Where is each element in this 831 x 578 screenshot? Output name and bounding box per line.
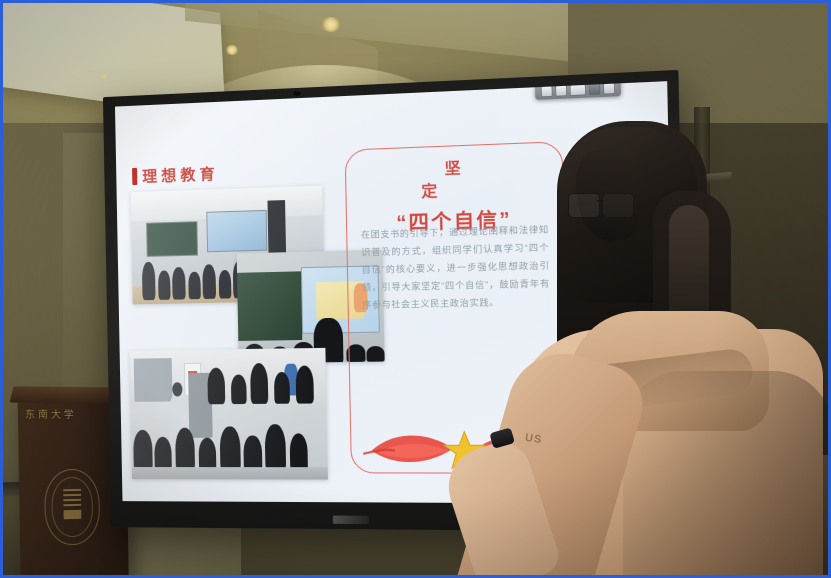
university-emblem (44, 469, 100, 546)
emblem-pagoda-icon (63, 489, 81, 519)
presenter: US (473, 121, 831, 578)
sleeve-text: US (524, 432, 543, 446)
screenshot-root: 东 南 大 学 理想教育 (0, 0, 831, 578)
floating-toolbar[interactable] (535, 81, 621, 100)
lectern-char: 学 (64, 405, 74, 420)
page-title: 理想教育 (142, 163, 219, 187)
ceiling-downlight (225, 45, 239, 55)
ceiling-panel-secondary (185, 3, 605, 65)
lectern-char: 南 (38, 405, 48, 420)
lectern-char: 东 (25, 405, 35, 420)
more-tool-icon[interactable] (604, 84, 614, 94)
photo-seated-audience (130, 348, 328, 480)
glasses-lens-left (568, 193, 600, 218)
pen-tool-icon[interactable] (542, 86, 552, 96)
glasses-icon (568, 193, 634, 217)
torso-shadow (623, 371, 831, 578)
undo-tool-icon[interactable] (589, 84, 599, 94)
select-tool-icon[interactable] (570, 85, 585, 95)
lectern-char: 大 (51, 405, 61, 420)
board-brand-logo (333, 516, 369, 525)
lectern-inscription: 东 南 大 学 (25, 405, 118, 421)
slide-header: 理想教育 (132, 163, 219, 187)
eraser-tool-icon[interactable] (556, 86, 566, 96)
ceiling-downlight (321, 17, 341, 32)
glasses-lens-right (602, 193, 634, 218)
camera-icon (291, 90, 303, 98)
title-accent-bar (132, 168, 137, 185)
ceiling-downlight (100, 73, 109, 80)
